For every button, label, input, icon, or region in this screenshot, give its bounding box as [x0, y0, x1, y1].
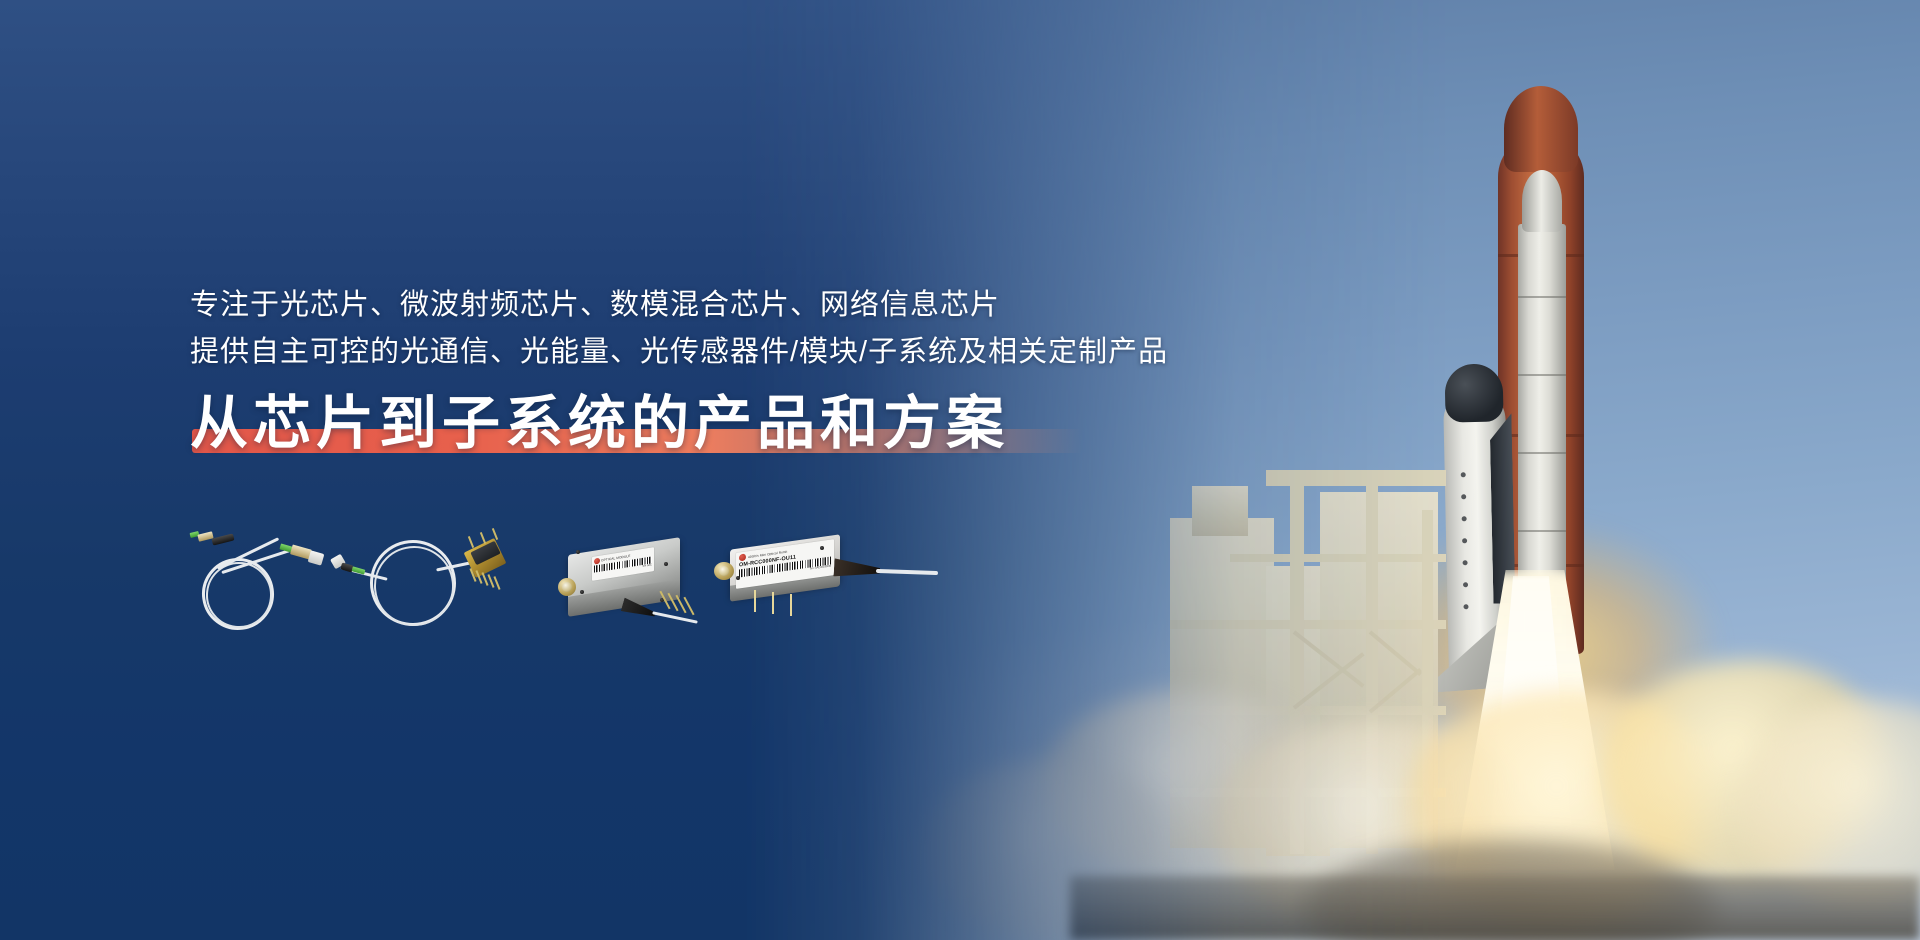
product-mini-optical-receiver: 40Gb/s Mini Optical Rxmit OM-RCC000NF-OU…: [710, 538, 940, 648]
banner-subtitle-line-2: 提供自主可控的光通信、光能量、光传感器件/模块/子系统及相关定制产品: [190, 329, 1290, 376]
banner-headline-wrap: 从芯片到子系统的产品和方案: [190, 392, 1009, 457]
product-fiber-pigtail-assembly: [190, 520, 340, 640]
fiber-boot: [833, 558, 880, 579]
launch-pad-ground: [1070, 876, 1920, 940]
fiber-connector-housing: [308, 550, 325, 565]
fiber-connector-boot: [211, 533, 234, 545]
product-metal-optical-module: OPTICAL MODULE S/n 0AC: [560, 540, 705, 645]
product-showcase-row: OPTICAL MODULE S/n 0AC: [190, 520, 1040, 650]
banner-subtitle-line-1: 专注于光芯片、微波射频芯片、数模混合芯片、网络信息芯片: [190, 282, 1290, 329]
banner-text-block: 专注于光芯片、微波射频芯片、数模混合芯片、网络信息芯片 提供自主可控的光通信、光…: [190, 282, 1290, 457]
space-shuttle-launch-photo: [740, 0, 1920, 940]
hero-banner: 专注于光芯片、微波射频芯片、数模混合芯片、网络信息芯片 提供自主可控的光通信、光…: [0, 0, 1920, 940]
product-butterfly-laser-assembly: [332, 520, 532, 645]
banner-headline: 从芯片到子系统的产品和方案: [190, 392, 1009, 457]
